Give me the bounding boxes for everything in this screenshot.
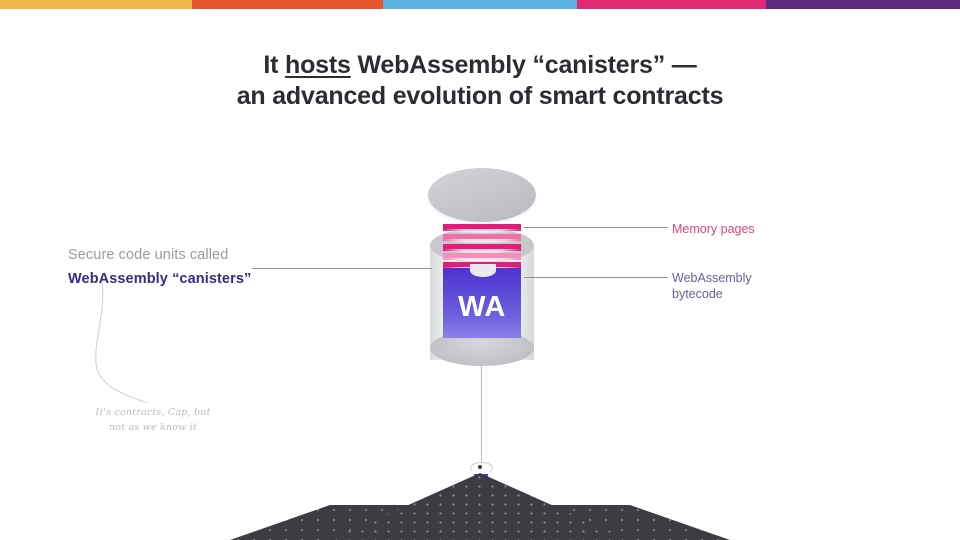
canister-lid [428,168,536,222]
wasm-block-notch [470,264,496,277]
memory-page-stripe [443,224,521,231]
handwriting-connector-path [96,277,148,403]
tether-line [481,366,482,468]
leader-line-bytecode [524,277,668,278]
label-wasm-bytecode: WebAssembly bytecode [672,270,752,302]
memory-page-stripe [443,253,521,260]
label-secure-code-units-line-2: WebAssembly “canisters” [68,270,288,288]
memory-page-stripe [443,234,521,241]
wasm-block-label: WA [443,293,521,322]
label-wasm-bytecode-line-1: WebAssembly [672,270,752,286]
label-secure-code-units: Secure code units called WebAssembly “ca… [68,246,288,288]
memory-page-stripe [443,244,521,251]
handwritten-note-line-2: not as we know it [88,420,218,435]
label-memory-pages: Memory pages [672,220,755,238]
handwritten-note: It's contracts, Cap, but not as we know … [88,405,218,435]
label-secure-code-units-line-1: Secure code units called [68,246,288,264]
mini-canister-dot-icon [478,465,482,469]
label-wasm-bytecode-line-2: bytecode [672,286,752,302]
canister-illustration: WA WA Secure code units called WebAssemb… [0,0,960,540]
handwritten-note-line-1: It's contracts, Cap, but [88,405,218,420]
leader-line-memory [524,227,668,228]
